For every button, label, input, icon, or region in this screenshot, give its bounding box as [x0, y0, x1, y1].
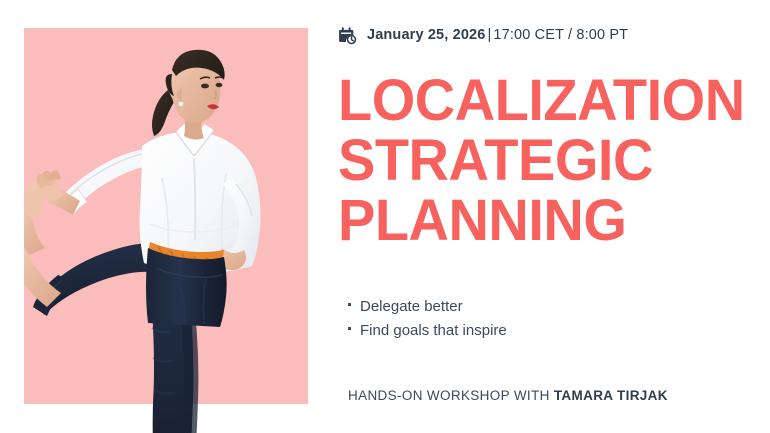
event-datetime-row: January 25, 2026|17:00 CET / 8:00 PT	[337, 25, 628, 46]
list-item-label: Find goals that inspire	[360, 319, 507, 343]
page-title: LOCALIZATION STRATEGIC PLANNING	[338, 71, 770, 251]
bullet-dot-icon	[348, 303, 351, 306]
webinar-promo-banner: January 25, 2026|17:00 CET / 8:00 PT LOC…	[0, 0, 770, 433]
content-column: January 25, 2026|17:00 CET / 8:00 PT LOC…	[337, 0, 770, 433]
speaker-photo-panel	[24, 28, 308, 404]
event-times: 17:00 CET / 8:00 PT	[493, 27, 628, 43]
speaker-illustration	[0, 28, 308, 433]
calendar-clock-icon	[337, 25, 358, 46]
event-datetime-text: January 25, 2026|17:00 CET / 8:00 PT	[367, 28, 628, 43]
event-date: January 25, 2026	[367, 27, 486, 43]
list-item: Delegate better	[348, 295, 507, 319]
title-line-3: PLANNING	[338, 191, 755, 251]
list-item-label: Delegate better	[360, 295, 463, 319]
title-line-2: STRATEGIC	[338, 131, 755, 191]
list-item: Find goals that inspire	[348, 319, 507, 343]
presenter-credit-prefix: HANDS-ON WORKSHOP WITH	[348, 388, 554, 403]
head-group	[152, 50, 225, 140]
hips-group	[146, 248, 227, 327]
speaker-figure	[0, 28, 308, 433]
presenter-credit: HANDS-ON WORKSHOP WITH TAMARA TIRJAK	[348, 388, 668, 404]
title-line-1: LOCALIZATION	[338, 71, 755, 131]
presenter-name: TAMARA TIRJAK	[554, 388, 668, 403]
bullet-dot-icon	[348, 327, 351, 330]
benefits-list: Delegate better Find goals that inspire	[348, 295, 507, 343]
